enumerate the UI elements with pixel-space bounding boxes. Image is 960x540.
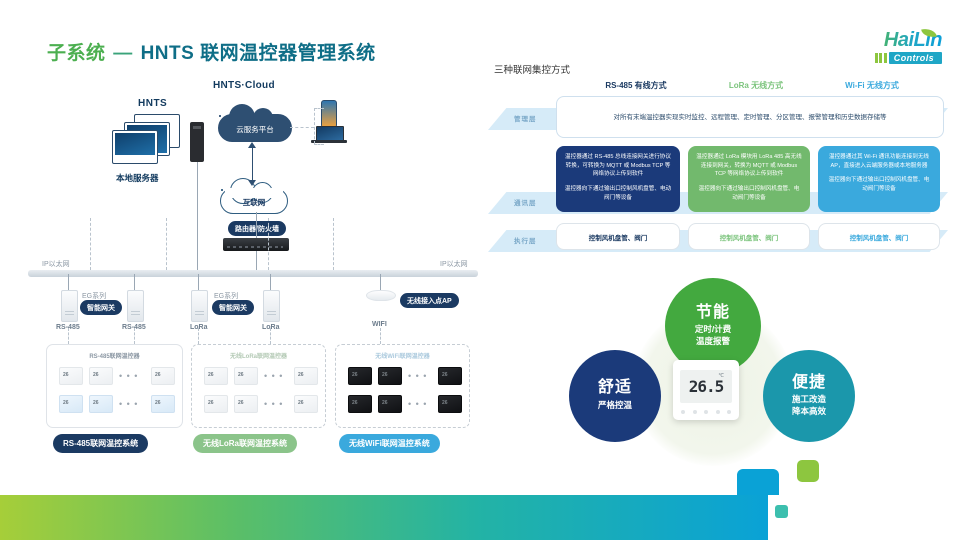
link-to-laptop [314,144,324,145]
band-label-communication: 通讯层 [514,197,537,207]
page-title: 子系统 — HNTS 联网温控器管理系统 [47,38,376,65]
thermostat-temperature: 26.5 [680,377,732,396]
footer-notch-shape [737,469,779,495]
cloud-to-devices-link [290,127,314,128]
thermostat-temp: 26 [155,400,161,406]
group-label-rs485: RS-485联网温控系统 [53,434,148,453]
exec-box-rs485: 控制风机盘管、阀门 [556,223,680,250]
comm-box-rs485: 温控器通过 RS-485 总线连接网关进行协议转换，可转换为 MQTT 或 Mo… [556,146,680,212]
network-diagram: HNTS HNTS·Cloud 本地服务器 云服务平台 互联网 [28,78,478,458]
group-wifi-title: 无线WiFi联网温控器 [336,351,469,360]
thermostat-hero: ℃ 26.5 [673,360,739,420]
comm-box-rs485-p1: 温控器通过 RS-485 总线连接网关进行协议转换，可转换为 MQTT 或 Mo… [564,153,672,179]
slide-root: 子系统 — HNTS 联网温控器管理系统 HaiLin Controls HNT… [0,0,960,540]
mobile-phone-icon [321,100,337,128]
column-head-rs485: RS-485 有线方式 [568,80,704,91]
ellipsis-label: • • • [264,399,283,409]
wireless-ap-device [366,290,396,301]
title-blue: HNTS 联网温控器管理系统 [141,43,376,64]
server-tower [190,122,204,162]
cloud-internet-link [252,146,253,184]
gateway-lora-b [263,290,280,322]
thermostat-item: 26 [59,367,83,385]
comm-box-wifi: 温控器通过其 Wi-Fi 通讯功能连接到无线 AP，直接进入云端服务器或本地服务… [818,146,940,212]
ellipsis-label: • • • [408,399,427,409]
footer-square-teal [775,505,788,518]
group3-link [380,328,381,344]
benefit-circle-convenience: 便捷 施工改造 降本高效 [763,350,855,442]
thermostat-item: 26 [204,395,228,413]
ethernet-bus [28,270,478,277]
column-head-wifi: Wi-Fi 无线方式 [808,80,936,91]
thermostat-item: 26 [89,367,113,385]
exec-box-rs485-text: 控制风机盘管、阀门 [589,232,648,242]
thermostat-item: 26 [59,395,83,413]
benefit-energy-line1: 定时/计费 [695,324,731,335]
thermostat-button[interactable] [704,410,708,414]
thermostat-item: 26 [348,395,372,413]
group-lora-title: 无线LoRa联网温控器 [192,351,325,360]
thermostat-buttons[interactable] [681,410,731,414]
ap-link [380,274,381,290]
thermostat-button[interactable] [716,410,720,414]
group1-link-a [68,328,69,344]
thermostat-temp: 26 [298,400,304,406]
comm-box-lora-p1: 温控器通过 LoRa 模块用 LoRa 485 高无线连接到网关，转换为 MQT… [696,153,802,179]
benefit-convenience-line2: 降本高效 [792,406,826,417]
gateway-rs485-b [127,290,144,322]
band-label-management: 管理层 [514,113,537,123]
thermostat-lcd: ℃ 26.5 [680,370,732,403]
exec-box-wifi-text: 控制风机盘管、阀门 [850,232,909,242]
dashed-guide-3 [268,218,269,270]
benefit-energy-title: 节能 [696,305,730,322]
thermostat-item: 26 [151,395,175,413]
exec-box-lora: 控制风机盘管、阀门 [688,223,810,250]
thermostat-temp: 26 [442,400,448,406]
server-to-bus-link [197,162,198,270]
arrow-down-icon [248,180,256,186]
local-server-label: 本地服务器 [116,172,159,184]
group-wifi: 无线WiFi联网温控器 26 26 • • • 26 26 26 • • • 2… [335,344,470,428]
thermostat-temp: 26 [352,400,358,406]
thermostat-item: 26 [204,367,228,385]
comm-box-lora-p2: 温控器向下通过输出口控制风机盘管、电动阀门等设备 [696,185,802,202]
cloud-platform-label: 云服务平台 [219,124,291,135]
band-label-execution: 执行层 [514,235,537,245]
exec-box-lora-text: 控制风机盘管、阀门 [720,232,779,242]
gateway-rs485-a [61,290,78,322]
thermostat-item: 26 [294,395,318,413]
arrow-up-icon [248,142,256,148]
thermostat-temp: 26 [93,372,99,378]
thermostat-item: 26 [378,367,402,385]
gw4-link [270,274,271,290]
column-head-lora: LoRa 无线方式 [696,80,816,91]
management-box: 对所有末端温控器实现实时监控、远程管理、定时管理、分区管理、报警管理和历史数据存… [556,96,944,138]
thermostat-temp: 26 [382,372,388,378]
thermostat-button[interactable] [727,410,731,414]
thermostat-temp: 26 [208,400,214,406]
thermostat-item: 26 [378,395,402,413]
footer-square-green [797,460,819,482]
thermostat-item: 26 [438,367,462,385]
benefit-convenience-title: 便捷 [792,375,826,392]
group-label-wifi: 无线WiFi联网温控系统 [339,434,440,453]
gw1-link [68,274,69,290]
comm-box-rs485-p2: 温控器向下通过输出口控制风机盘管、电动阀门等设备 [564,185,672,202]
title-green: 子系统 [47,43,106,64]
devices-vertical-link [314,108,315,144]
thermostat-item: 26 [234,367,258,385]
thermostat-item: 26 [294,367,318,385]
gateway-label-1: 智能网关 [80,300,122,315]
benefit-comfort-line1: 严格控温 [598,400,632,411]
thermostat-temp: 26 [238,400,244,406]
thermostat-temp: 26 [382,400,388,406]
dashed-guide-4 [333,218,334,270]
thermostat-item: 26 [438,395,462,413]
thermostat-item: 26 [234,395,258,413]
group2-link-a [198,328,199,344]
benefits-cluster: 节能 定时/计费 温度报警 舒适 严格控温 便捷 施工改造 降本高效 ℃ 26.… [555,278,855,468]
gateway-label-2: 智能网关 [212,300,254,315]
ap-label: 无线接入点AP [400,293,459,308]
comm-box-wifi-p2: 温控器向下通过输出口控制风机盘管、电动阀门等设备 [826,176,932,193]
link-to-phone [314,108,324,109]
bus-label-wifi: WIFI [372,321,387,328]
thermostat-temp: 26 [442,372,448,378]
dashed-guide-1 [90,218,91,270]
group-label-lora: 无线LoRa联网温控系统 [193,434,297,453]
thermostat-item: 26 [89,395,113,413]
thermostat-temp: 26 [208,372,214,378]
thermostat-temp: 26 [155,372,161,378]
comm-box-lora: 温控器通过 LoRa 模块用 LoRa 485 高无线连接到网关，转换为 MQT… [688,146,810,212]
laptop-base-icon [311,140,347,143]
thermostat-temp: 26 [93,400,99,406]
router-to-bus-link [256,251,257,270]
router-device [223,238,289,251]
monitor-front [112,130,158,164]
thermostat-temp: 26 [298,372,304,378]
benefit-comfort-title: 舒适 [598,380,632,397]
exec-box-wifi: 控制风机盘管、阀门 [818,223,940,250]
thermostat-button[interactable] [681,410,685,414]
ellipsis-label: • • • [119,399,138,409]
group2-link-b [270,328,271,344]
ellipsis-label: • • • [408,371,427,381]
thermostat-temp: 26 [63,372,69,378]
benefit-circle-comfort: 舒适 严格控温 [569,350,661,442]
control-methods-panel: 三种联网集控方式 RS-485 有线方式 LoRa 无线方式 Wi-Fi 无线方… [488,60,948,270]
group-rs485: RS-485联网温控器 26 26 • • • 26 26 26 • • • 2… [46,344,183,428]
group-rs485-title: RS-485联网温控器 [47,351,182,360]
footer-gradient-bar [0,495,768,540]
group-lora: 无线LoRa联网温控器 26 26 • • • 26 26 26 • • • 2… [191,344,326,428]
ellipsis-label: • • • [119,371,138,381]
thermostat-item: 26 [348,367,372,385]
internet-label: 互联网 [221,197,287,208]
gw2-link [134,274,135,290]
hnts-caption: HNTS [138,98,167,109]
panel-heading: 三种联网集控方式 [494,62,570,76]
benefit-energy-line2: 温度报警 [696,336,730,347]
dashed-guide-2 [166,218,167,270]
cloud-platform-shape: 云服务平台 [218,114,292,142]
benefit-convenience-line1: 施工改造 [792,394,826,405]
internet-to-router-link [256,212,257,238]
ethernet-right-label: IP以太网 [440,259,468,269]
ellipsis-label: • • • [264,371,283,381]
thermostat-button[interactable] [693,410,697,414]
thermostat-temp: 26 [352,372,358,378]
gw3-link [198,274,199,290]
gateway-lora-a [191,290,208,322]
hnts-cloud-caption: HNTS·Cloud [213,80,275,91]
thermostat-item: 26 [151,367,175,385]
management-box-text: 对所有末端温控器实现实时监控、远程管理、定时管理、分区管理、报警管理和历史数据存… [557,111,943,121]
internet-cloud-shape: 互联网 [220,188,288,214]
title-dash: — [111,43,135,64]
thermostat-temp: 26 [238,372,244,378]
thermostat-temp: 26 [63,400,69,406]
group1-link-b [134,328,135,344]
ethernet-left-label: IP以太网 [42,259,70,269]
comm-box-wifi-p1: 温控器通过其 Wi-Fi 通讯功能连接到无线 AP，直接进入云端服务器或本地服务… [826,153,932,170]
